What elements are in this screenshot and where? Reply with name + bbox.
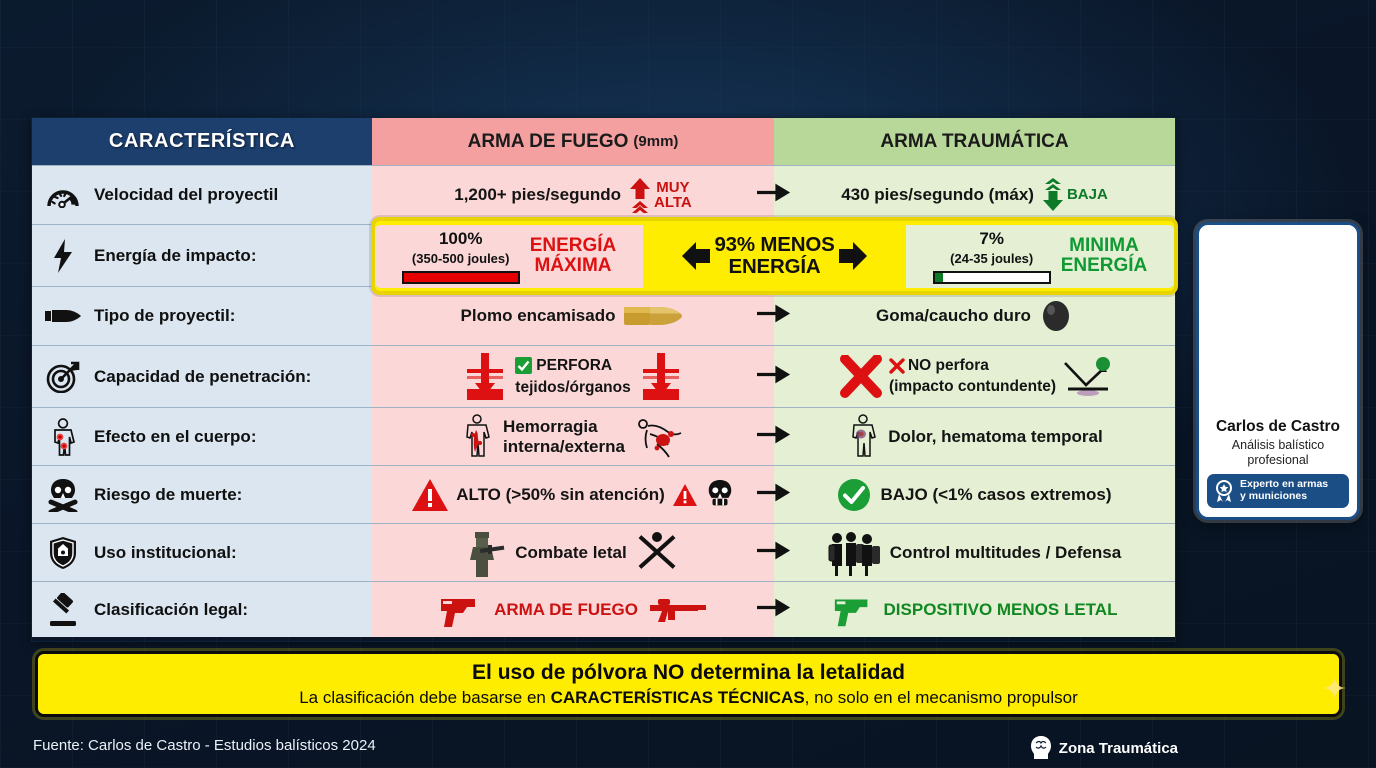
badge-line1: Experto en armas	[1240, 478, 1328, 490]
traumatic-cell-velocidad: 430 pies/segundo (máx) BAJA	[774, 166, 1175, 224]
firearm-cell-uso: Combate letal	[372, 524, 774, 581]
traumatic-energy-word1: MINIMA	[1069, 235, 1139, 256]
table-header-row: CARACTERÍSTICA ARMA DE FUEGO (9mm) ARMA …	[32, 118, 1175, 165]
green-check-icon	[837, 478, 871, 512]
firearm-pen-line2: tejidos/órganos	[515, 379, 630, 396]
traumatic-energy-bar	[933, 271, 1051, 284]
up-arrow-icon	[629, 177, 651, 213]
banner-subline: La clasificación debe basarse en CARACTE…	[299, 688, 1078, 708]
traumatic-value: Dolor, hematoma temporal	[888, 427, 1102, 446]
traumatic-pen-line2: (impacto contundente)	[889, 378, 1056, 395]
firearm-energy-word2: MÁXIMA	[534, 255, 611, 276]
firearm-cell-velocidad: 1,200+ pies/segundo MUY ALTA	[372, 166, 774, 224]
feature-cell-riesgo: Riesgo de muerte:	[32, 466, 372, 523]
feature-cell-uso: Uso institucional:	[32, 524, 372, 581]
column-header-traumatic: ARMA TRAUMÁTICA	[774, 118, 1175, 165]
firearm-energy-block: 100% (350-500 joules) ENERGÍA MÁXIMA	[375, 225, 643, 288]
firearm-value: Combate letal	[515, 543, 626, 562]
red-rifle-icon	[648, 595, 708, 625]
feature-cell-penetracion: Capacidad de penetración:	[32, 346, 372, 407]
infographic-page: ANÁLISIS TÉCNICO: ¿QUÉ HACE QUE UN ARMA …	[0, 0, 1376, 768]
police-shield-icon	[42, 536, 84, 570]
warning-triangle-icon	[411, 477, 449, 513]
feature-label: Clasificación legal:	[94, 600, 248, 619]
green-pistol-icon	[832, 593, 876, 627]
table-row: Uso institucional: Combate letal	[32, 523, 1175, 581]
lightning-bolt-icon	[42, 239, 84, 273]
traumatic-energy-percent: 7%	[979, 229, 1004, 249]
table-row: Capacidad de penetración:	[32, 345, 1175, 407]
firearm-energy-word1: ENERGÍA	[530, 235, 617, 256]
traumatic-value: 430 pies/segundo (máx)	[841, 185, 1034, 204]
feature-label: Efecto en el cuerpo:	[94, 427, 256, 446]
bullet-icon	[42, 308, 84, 324]
traumatic-cell-proyectil: Goma/caucho duro	[774, 287, 1175, 345]
low-indicator: BAJA	[1042, 178, 1108, 212]
feature-label: Velocidad del proyectil	[94, 185, 278, 204]
crossed-rifles-icon	[636, 530, 680, 576]
check-box-icon	[515, 357, 532, 374]
x-mark-icon	[889, 358, 905, 374]
traumatic-energy-block: 7% (24-35 joules) MINIMA ENERGÍA	[906, 225, 1174, 288]
firearm-cell-efecto: Hemorragia interna/externa	[372, 408, 774, 465]
author-photo	[1207, 233, 1349, 418]
down-arrow-icon	[1042, 178, 1064, 212]
feature-cell-velocidad: Velocidad del proyectil	[32, 166, 372, 224]
small-warning-icon	[672, 483, 698, 507]
feature-cell-clasificacion: Clasificación legal:	[32, 582, 372, 637]
right-arrow-icon	[839, 234, 867, 278]
feature-cell-efecto: Efecto en el cuerpo:	[32, 408, 372, 465]
feature-label: Energía de impacto:	[94, 246, 256, 265]
traumatic-cell-uso: Control multitudes / Defensa	[774, 524, 1175, 581]
traumatic-pen-line1: NO perfora	[908, 357, 989, 374]
comparison-arrow-icon	[757, 365, 791, 388]
skull-crossbones-icon	[42, 478, 84, 512]
comparison-arrow-icon	[757, 483, 791, 506]
energy-diff-line1: 93% MENOS	[714, 233, 834, 256]
comparison-arrow-icon	[757, 598, 791, 621]
firearm-energy-bar	[402, 271, 520, 284]
firearm-effect-line2: interna/externa	[503, 437, 625, 456]
conclusion-banner: El uso de pólvora NO determina la letali…	[35, 651, 1342, 717]
fmj-bullet-image	[623, 303, 685, 329]
very-high-indicator: MUY ALTA	[629, 177, 692, 213]
gavel-icon	[42, 593, 84, 627]
traumatic-cell-clasificacion: DISPOSITIVO MENOS LETAL	[774, 582, 1175, 637]
traumatic-value: Control multitudes / Defensa	[890, 543, 1121, 562]
traumatic-value: DISPOSITIVO MENOS LETAL	[884, 600, 1118, 619]
body-pain-icon	[42, 417, 84, 457]
firearm-tag-line1: MUY	[656, 179, 689, 196]
skull-icon	[705, 479, 735, 511]
firearm-value: ALTO (>50% sin atención)	[456, 485, 665, 504]
brand-logo: Zona Traumática	[1030, 735, 1178, 761]
energy-diff-line2: ENERGÍA	[728, 255, 820, 278]
bruised-body-icon	[846, 413, 880, 461]
firearm-value: ARMA DE FUEGO	[494, 600, 638, 619]
energy-difference-callout: 93% MENOS ENERGÍA	[643, 234, 906, 278]
fallen-victim-icon	[633, 414, 687, 460]
feature-label: Riesgo de muerte:	[94, 485, 242, 504]
banner-headline: El uso de pólvora NO determina la letali…	[472, 661, 905, 685]
speedometer-icon	[42, 182, 84, 208]
traumatic-tag: BAJA	[1067, 187, 1108, 202]
traumatic-energy-joules: (24-35 joules)	[950, 251, 1033, 266]
author-subtitle: Análisis balístico profesional	[1207, 438, 1349, 467]
traumatic-cell-penetracion: NO perfora (impacto contundente)	[774, 346, 1175, 407]
firearm-caliber: (9mm)	[633, 133, 678, 150]
page-title: ANÁLISIS TÉCNICO: ¿QUÉ HACE QUE UN ARMA …	[0, 14, 1376, 52]
feature-label: Capacidad de penetración:	[94, 367, 311, 386]
firearm-tag-line2: ALTA	[654, 194, 692, 211]
penetration-diagram-icon-2	[641, 352, 681, 402]
comparison-arrow-icon	[757, 541, 791, 564]
penetration-diagram-icon	[465, 352, 505, 402]
bleeding-body-icon	[459, 413, 495, 461]
energy-highlight-callout: 100% (350-500 joules) ENERGÍA MÁXIMA	[371, 217, 1178, 295]
rubber-ball-icon	[1039, 299, 1073, 333]
source-text: Fuente: Carlos de Castro - Estudios balí…	[33, 737, 376, 754]
table-row-energy: Energía de impacto: 100% (350-500 joules…	[32, 224, 1175, 286]
badge-line2: y municiones	[1240, 490, 1307, 502]
feature-label: Uso institucional:	[94, 543, 237, 562]
sparkle-icon: ✦	[1322, 672, 1347, 707]
firearm-cell-proyectil: Plomo encamisado	[372, 287, 774, 345]
firearm-cell-riesgo: ALTO (>50% sin atención)	[372, 466, 774, 523]
firearm-cell-penetracion: PERFORA tejidos/órganos	[372, 346, 774, 407]
table-row: Clasificación legal: ARMA DE FUEGO	[32, 581, 1175, 637]
author-name: Carlos de Castro	[1207, 418, 1349, 436]
comparison-table: CARACTERÍSTICA ARMA DE FUEGO (9mm) ARMA …	[31, 117, 1176, 642]
traumatic-value: Goma/caucho duro	[876, 306, 1031, 325]
column-header-feature: CARACTERÍSTICA	[32, 118, 372, 165]
traumatic-energy-word2: ENERGÍA	[1061, 255, 1148, 276]
firearm-value: Plomo encamisado	[461, 306, 616, 325]
feature-cell-energia: Energía de impacto:	[32, 225, 372, 286]
page-footer: Fuente: Carlos de Castro - Estudios balí…	[0, 733, 1376, 768]
rosette-icon	[1213, 479, 1235, 503]
soldier-icon	[466, 528, 506, 578]
red-pistol-icon	[438, 593, 484, 627]
comparison-arrow-icon	[757, 425, 791, 448]
column-header-firearm: ARMA DE FUEGO (9mm)	[372, 118, 774, 165]
traumatic-cell-efecto: Dolor, hematoma temporal	[774, 408, 1175, 465]
page-subtitle: Comparación basada en características ba…	[0, 59, 1376, 83]
traumatic-value: BAJO (<1% casos extremos)	[880, 485, 1111, 504]
ricochet-diagram-icon	[1062, 355, 1110, 399]
author-card: Carlos de Castro Análisis balístico prof…	[1196, 222, 1360, 520]
table-row: Riesgo de muerte: ALTO (>50% sin atenció…	[32, 465, 1175, 523]
firearm-energy-percent: 100%	[439, 229, 482, 249]
feature-cell-proyectil: Tipo de proyectil:	[32, 287, 372, 345]
left-arrow-icon	[682, 234, 710, 278]
feature-label: Tipo de proyectil:	[94, 306, 235, 325]
red-x-icon	[839, 355, 883, 399]
comparison-arrow-icon	[757, 305, 791, 328]
riot-police-icon	[828, 529, 884, 577]
traumatic-cell-riesgo: BAJO (<1% casos extremos)	[774, 466, 1175, 523]
firearm-pen-line1: PERFORA	[536, 357, 612, 374]
comparison-arrow-icon	[757, 184, 791, 207]
firearm-energy-joules: (350-500 joules)	[412, 251, 510, 266]
table-row: Velocidad del proyectil 1,200+ pies/segu…	[32, 165, 1175, 224]
brand-name: Zona Traumática	[1059, 740, 1178, 757]
page-header: ANÁLISIS TÉCNICO: ¿QUÉ HACE QUE UN ARMA …	[0, 0, 1376, 83]
firearm-value: 1,200+ pies/segundo	[454, 185, 621, 204]
brain-head-icon	[1030, 735, 1052, 761]
firearm-cell-clasificacion: ARMA DE FUEGO	[372, 582, 774, 637]
expert-badge: Experto en armas y municiones	[1207, 474, 1349, 508]
firearm-effect-line1: Hemorragia	[503, 417, 597, 436]
table-row: Efecto en el cuerpo: Hemorragia interna/…	[32, 407, 1175, 465]
target-icon	[42, 361, 84, 393]
